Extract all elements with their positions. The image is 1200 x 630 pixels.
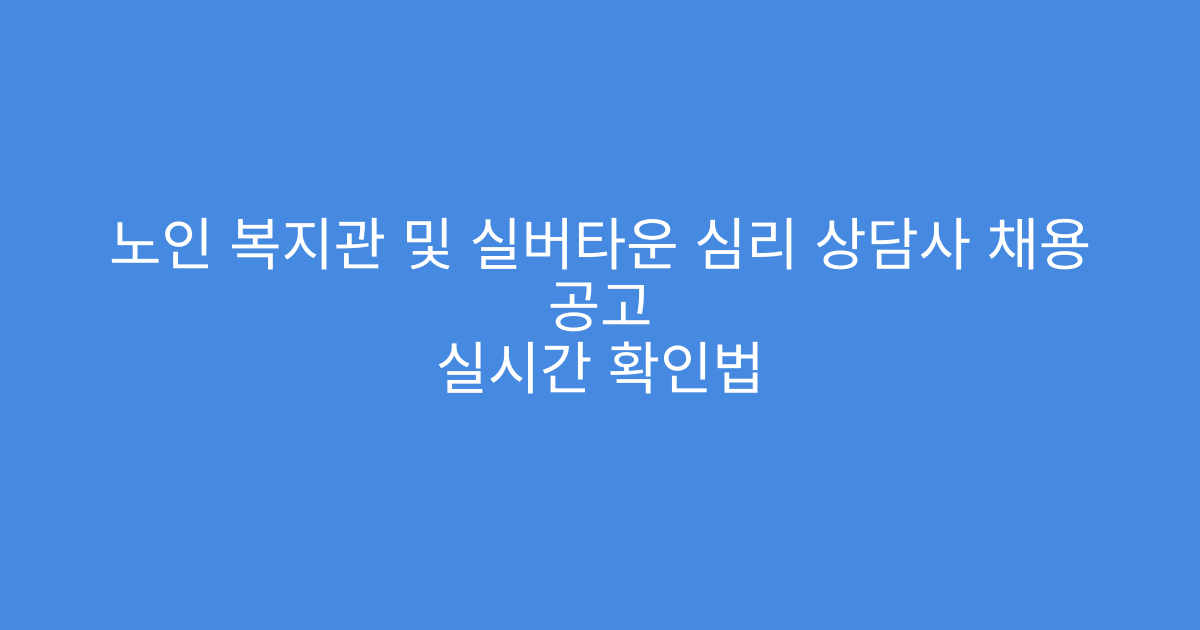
page-title: 노인 복지관 및 실버타운 심리 상담사 채용 공고 실시간 확인법 [80,215,1120,401]
banner-card: 노인 복지관 및 실버타운 심리 상담사 채용 공고 실시간 확인법 [0,0,1200,630]
title-block: 노인 복지관 및 실버타운 심리 상담사 채용 공고 실시간 확인법 [70,215,1130,401]
